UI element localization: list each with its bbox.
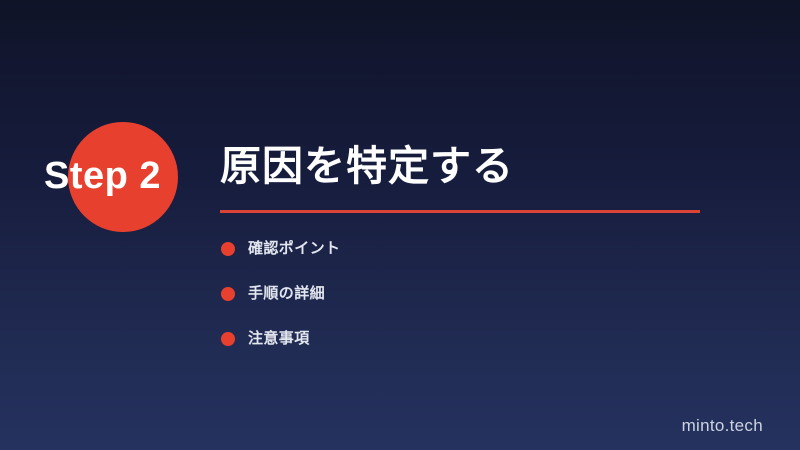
title-block: 原因を特定する	[220, 140, 740, 213]
list-item: 確認ポイント	[221, 238, 681, 259]
footer-brand-label: minto.tech	[682, 416, 763, 436]
bullet-dot-icon	[221, 242, 235, 256]
list-item: 注意事項	[221, 328, 681, 349]
title-underline-rule	[220, 210, 700, 213]
bullet-dot-icon	[221, 287, 235, 301]
presentation-slide: Step 2 原因を特定する 確認ポイント 手順の詳細 注意事項 minto.t…	[0, 0, 800, 450]
list-item-label: 確認ポイント	[248, 238, 340, 259]
list-item: 手順の詳細	[221, 283, 681, 304]
bullet-dot-icon	[221, 332, 235, 346]
list-item-label: 手順の詳細	[248, 283, 325, 304]
bullet-list: 確認ポイント 手順の詳細 注意事項	[221, 238, 681, 349]
step-badge-label: Step 2	[44, 152, 214, 200]
list-item-label: 注意事項	[248, 328, 310, 349]
slide-title: 原因を特定する	[220, 140, 740, 192]
